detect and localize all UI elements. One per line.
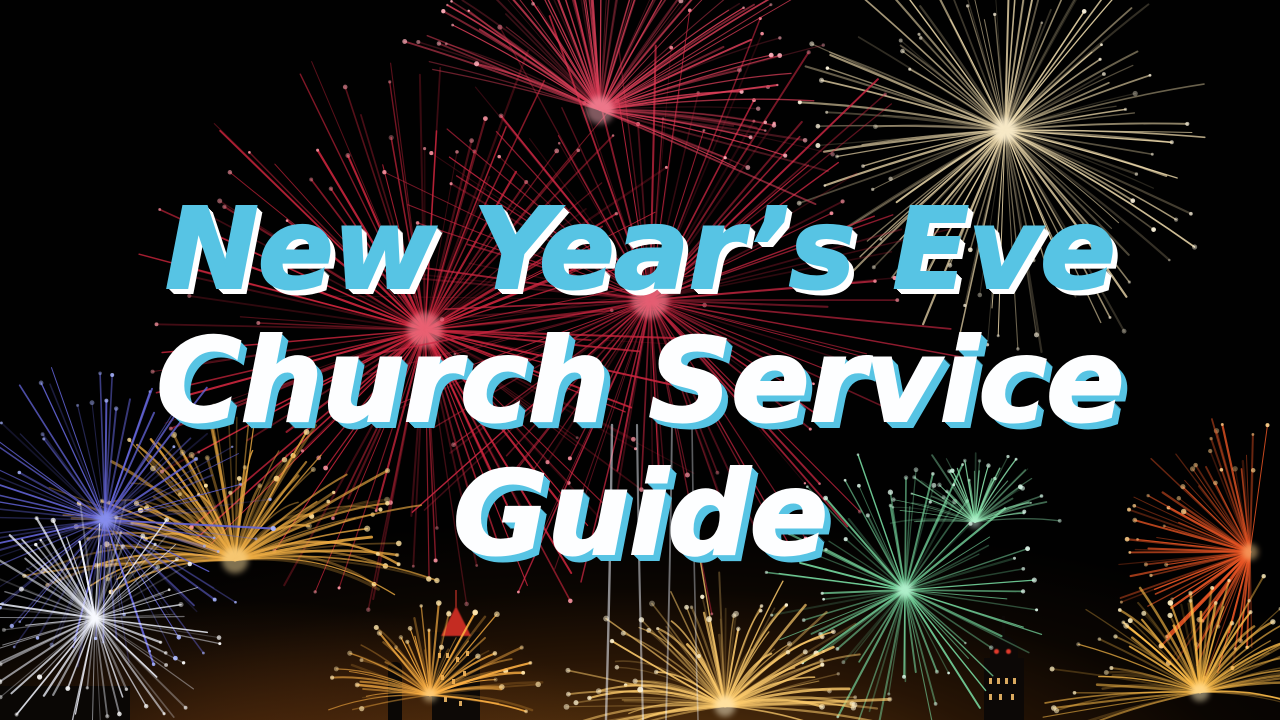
firework-small-green-spray	[975, 522, 1070, 617]
firework-crimson-peony-top	[600, 110, 850, 360]
firework-large-gold-chrysanthemum	[1005, 130, 1225, 350]
firework-gold-fan-burst	[1200, 692, 1280, 720]
firework-gold-fountain-center	[725, 706, 915, 720]
title-card-canvas: New Year’s Eve Church Service Guide	[0, 0, 1280, 720]
firework-amber-burst-mid-left	[430, 695, 555, 720]
firework-white-sparkle-cluster	[95, 618, 230, 720]
